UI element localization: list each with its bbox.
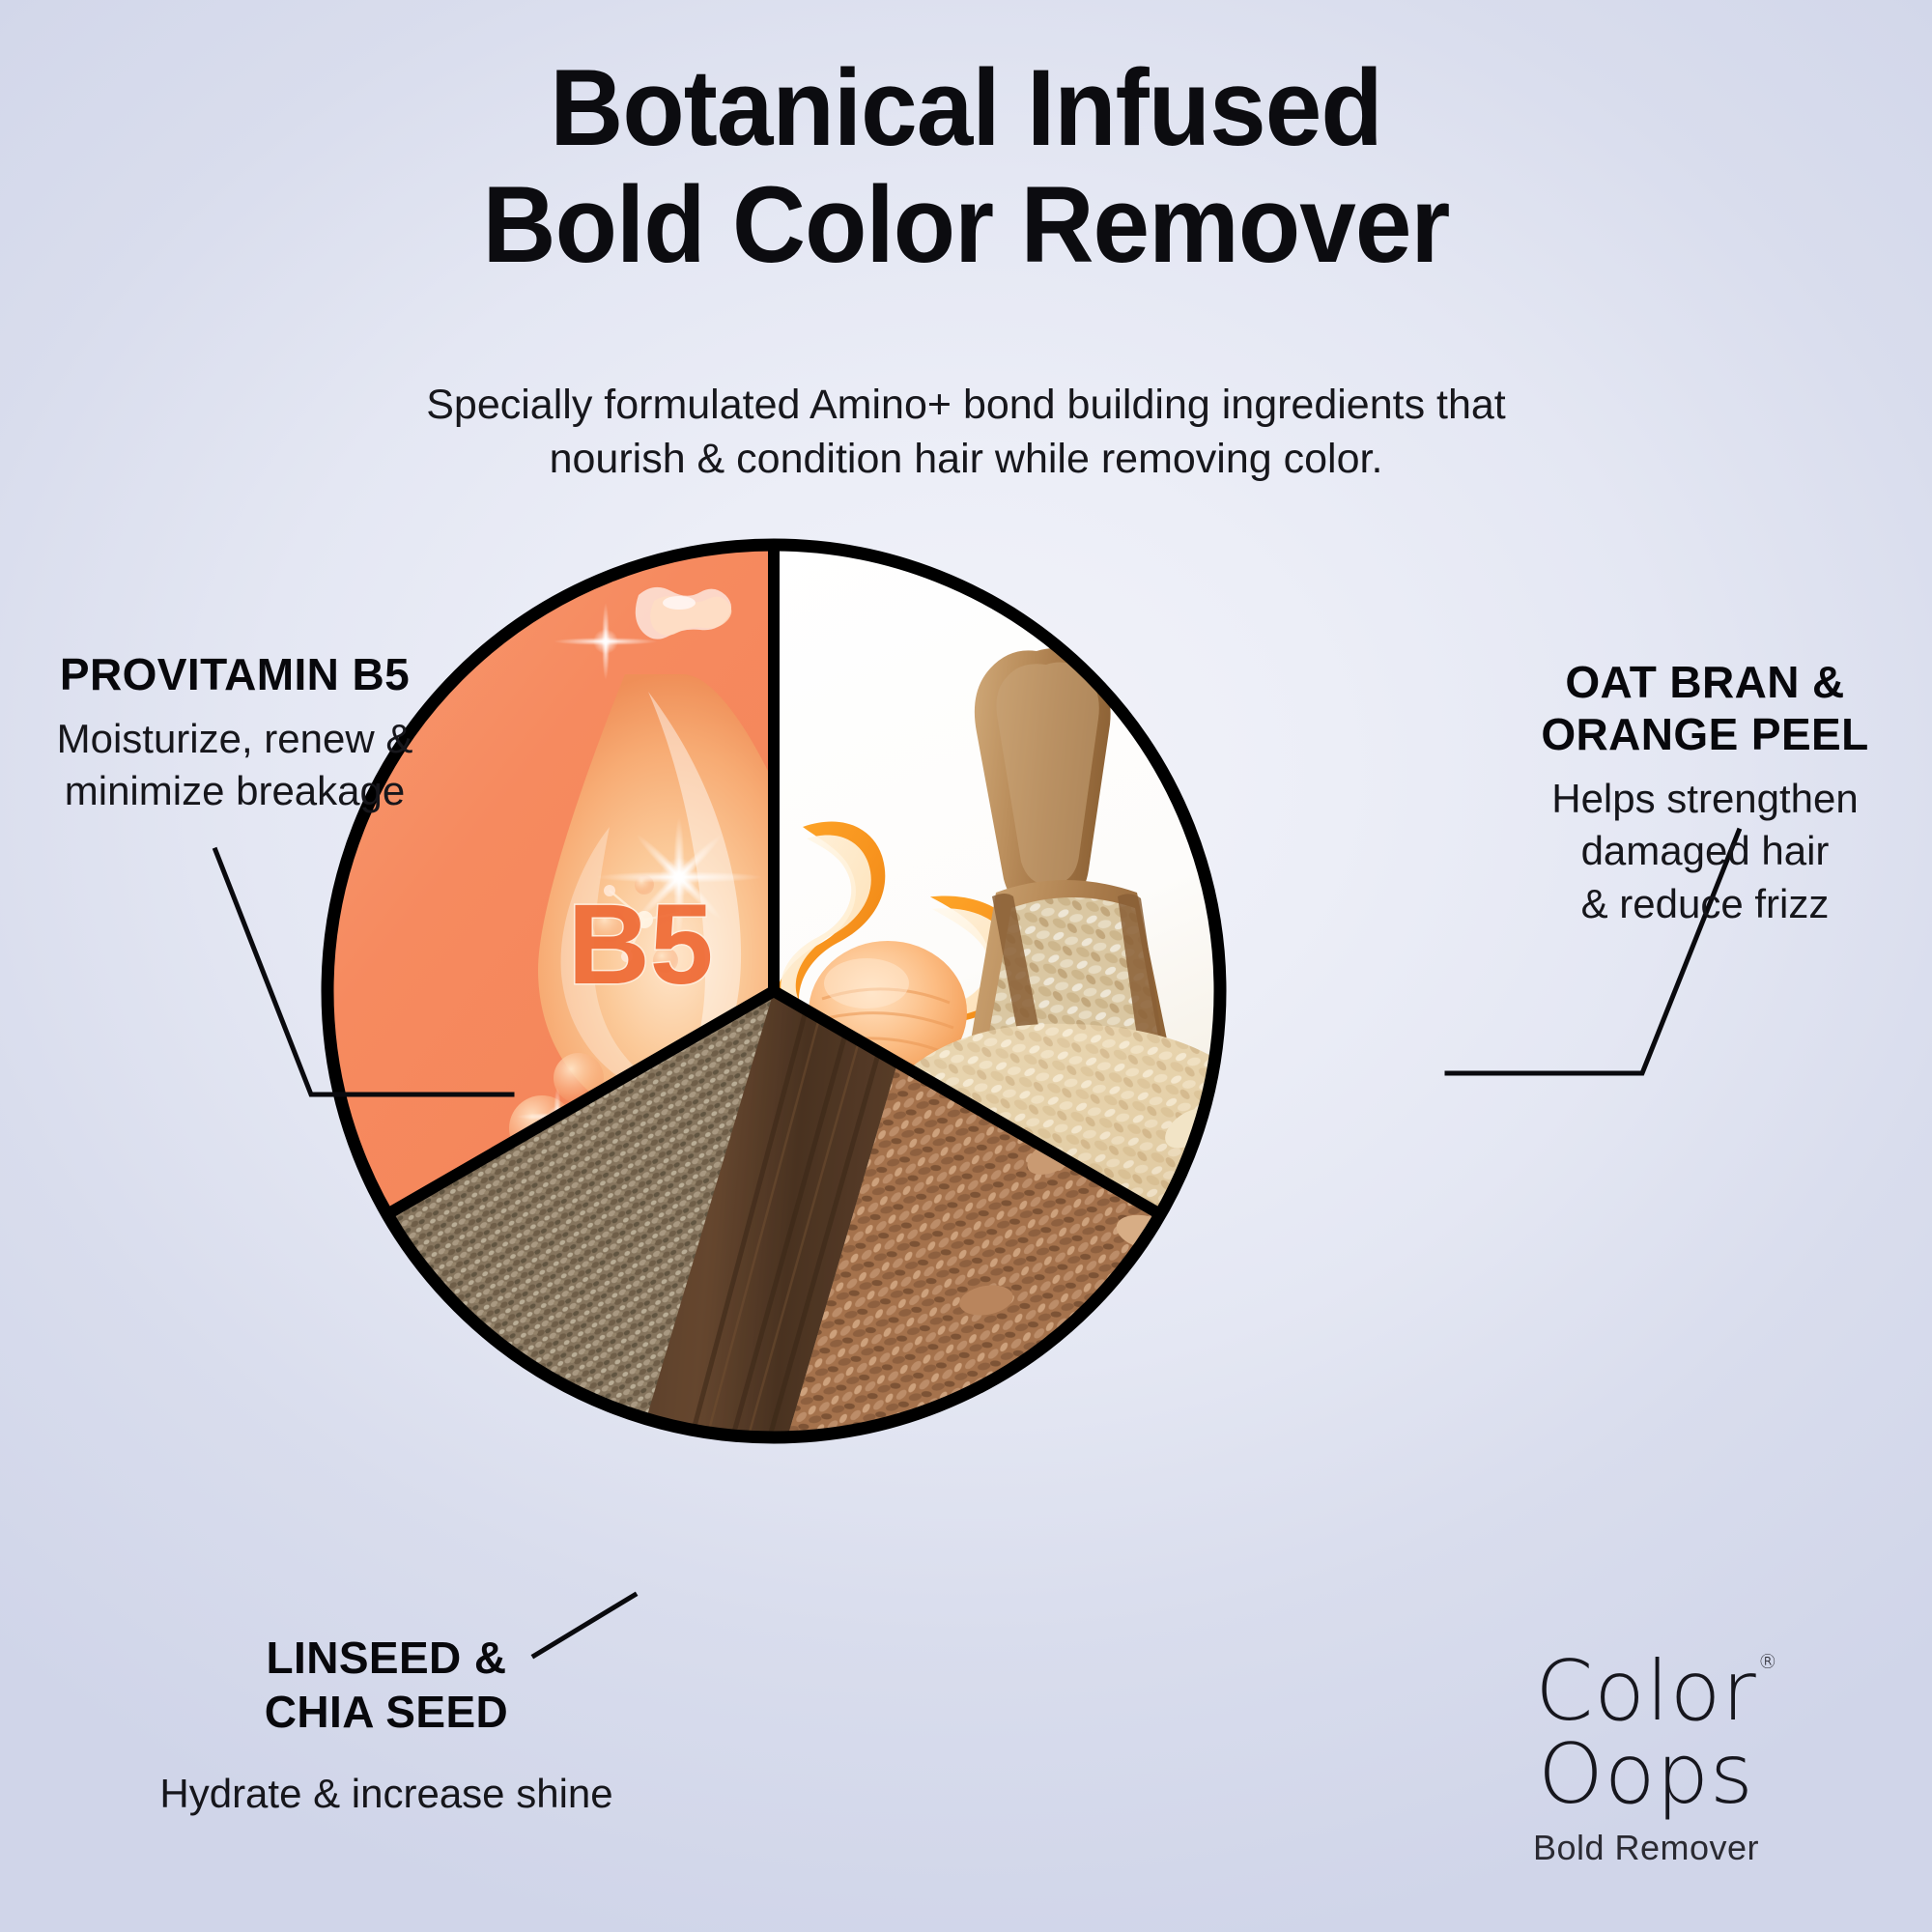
title-line-1: Botanical Infused bbox=[550, 47, 1381, 168]
callout-heading: OAT BRAN & ORANGE PEEL bbox=[1497, 657, 1913, 761]
subtitle-line-2: nourish & condition hair while removing … bbox=[550, 436, 1383, 482]
callout-heading: LINSEED & CHIA SEED bbox=[116, 1631, 657, 1739]
registered-trademark-icon: ® bbox=[1758, 1652, 1778, 1671]
brand-wordmark: Color Oops® bbox=[1414, 1650, 1878, 1816]
callout-body: Hydrate & increase shine bbox=[116, 1768, 657, 1821]
subtitle-line-1: Specially formulated Amino+ bond buildin… bbox=[426, 382, 1506, 428]
brand-logo: Color Oops® Bold Remover bbox=[1414, 1650, 1878, 1868]
infographic-canvas: Botanical Infused Bold Color Remover Spe… bbox=[0, 0, 1932, 1932]
callout-body: Moisturize, renew & minimize breakage bbox=[27, 713, 442, 818]
callout-oat-bran-orange-peel: OAT BRAN & ORANGE PEEL Helps strengthen … bbox=[1497, 657, 1913, 930]
callout-heading: PROVITAMIN B5 bbox=[27, 649, 442, 701]
brand-wordmark-text: Color Oops bbox=[1535, 1643, 1757, 1823]
ingredient-pie-chart: B5 bbox=[320, 537, 1228, 1445]
page-subtitle: Specially formulated Amino+ bond buildin… bbox=[328, 379, 1604, 487]
b5-badge-label: B5 bbox=[568, 881, 714, 1009]
page-title: Botanical Infused Bold Color Remover bbox=[58, 50, 1874, 284]
callout-provitamin-b5: PROVITAMIN B5 Moisturize, renew & minimi… bbox=[27, 649, 442, 818]
callout-linseed-chia-seed: LINSEED & CHIA SEED Hydrate & increase s… bbox=[116, 1631, 657, 1821]
title-line-2: Bold Color Remover bbox=[58, 167, 1874, 284]
callout-body: Helps strengthen damaged hair & reduce f… bbox=[1497, 773, 1913, 931]
brand-tagline: Bold Remover bbox=[1414, 1828, 1878, 1868]
